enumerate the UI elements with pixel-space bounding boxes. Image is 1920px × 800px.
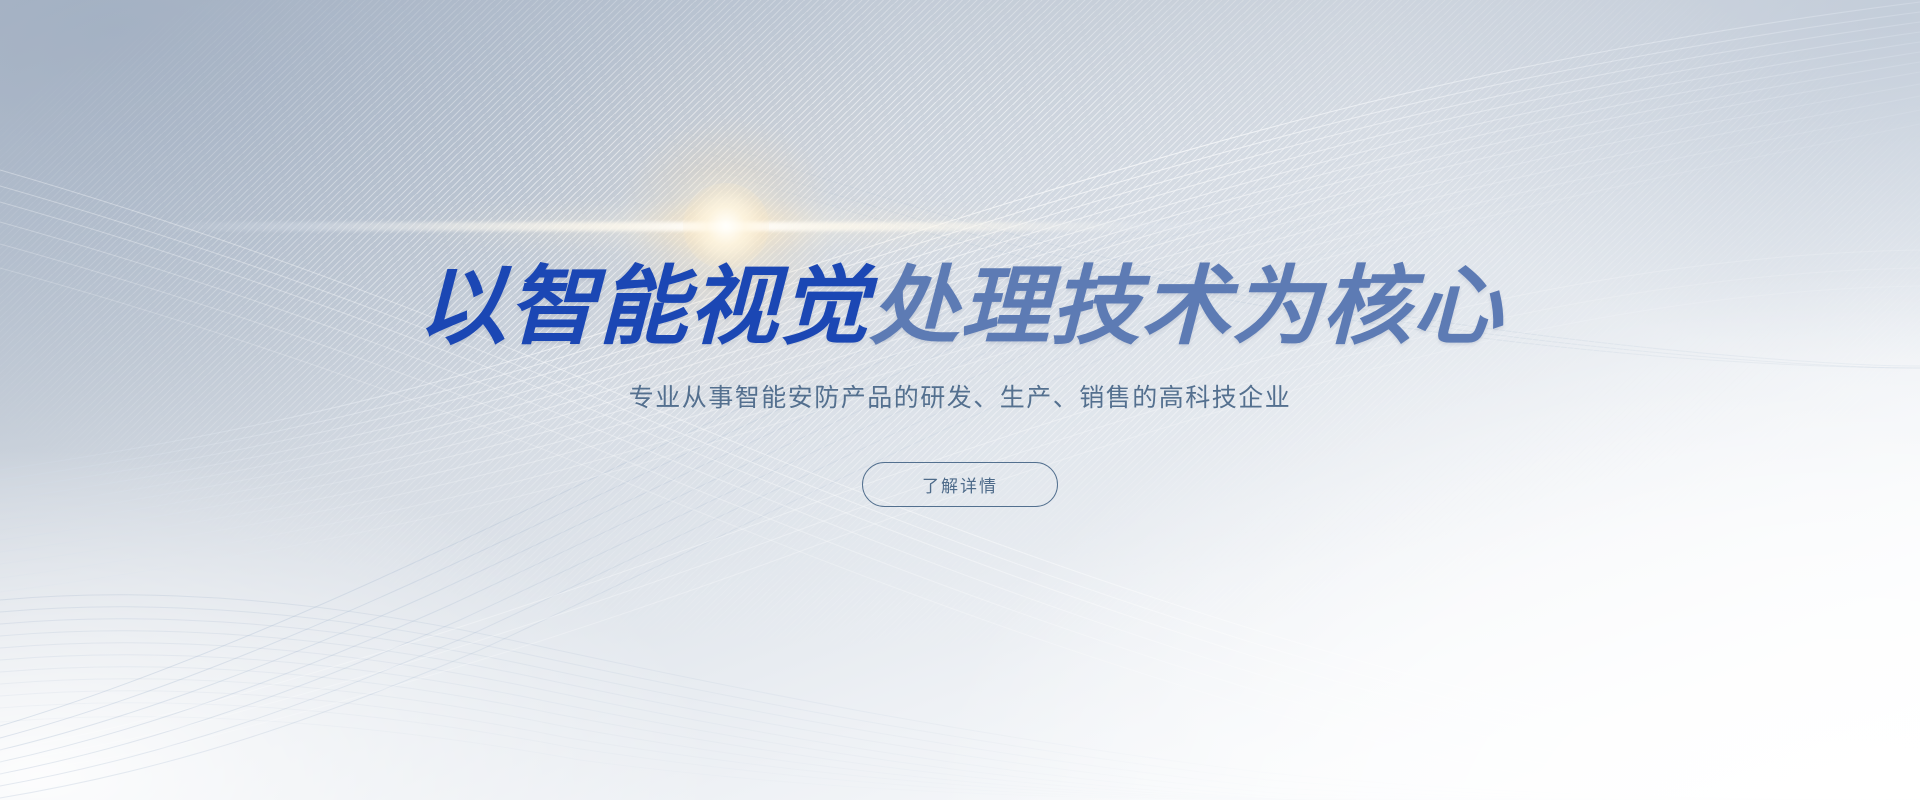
hero-banner: 以智能视觉处理技术为核心 专业从事智能安防产品的研发、生产、销售的高科技企业 了… xyxy=(0,0,1920,800)
headline-segment-secondary: 处理技术为核心 xyxy=(870,257,1503,357)
learn-more-button[interactable]: 了解详情 xyxy=(862,462,1058,507)
page-title: 以智能视觉处理技术为核心 xyxy=(417,264,1503,350)
hero-subtitle: 专业从事智能安防产品的研发、生产、销售的高科技企业 xyxy=(629,380,1292,415)
headline-segment-primary: 以智能视觉 xyxy=(417,257,869,357)
